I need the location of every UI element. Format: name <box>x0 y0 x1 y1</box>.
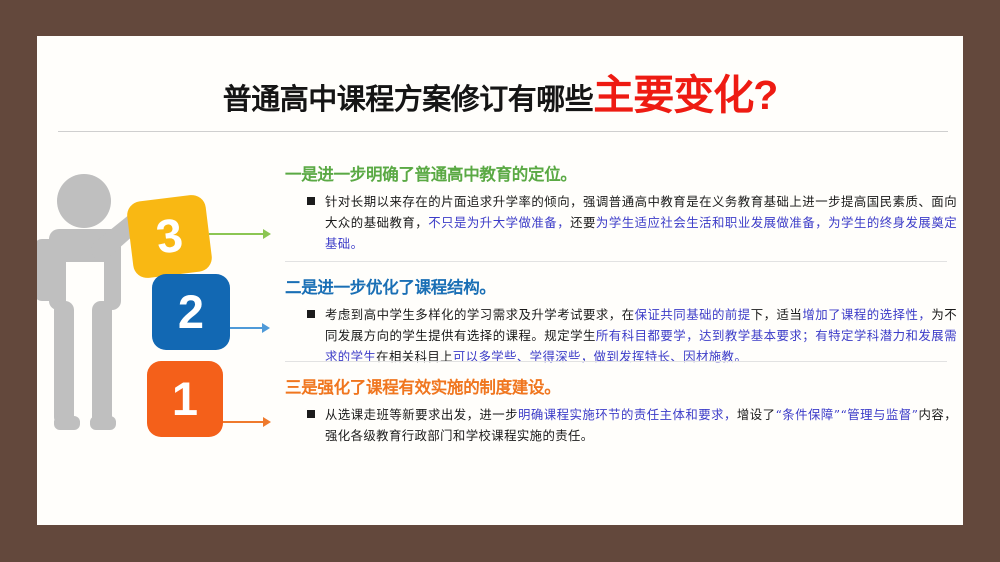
arrow-to-section-2 <box>230 323 270 333</box>
section-3-body-row: 从选课走班等新要求出发，进一步明确课程实施环节的责任主体和要求，增设了“条件保障… <box>267 404 957 446</box>
section-2-body: 考虑到高中学生多样化的学习需求及升学考试要求，在保证共同基础的前提下，适当增加了… <box>325 304 957 367</box>
bullet-square-icon <box>307 410 315 418</box>
slide-canvas: 普通高中课程方案修订有哪些主要变化? 3 <box>37 36 963 525</box>
section-1-body-row: 针对长期以来存在的片面追求升学率的倾向，强调普通高中教育是在义务教育基础上进一步… <box>267 191 957 254</box>
text-run-highlight: 增加了课程的选择性， <box>802 307 931 322</box>
number-box-2[interactable]: 2 <box>152 274 230 350</box>
text-run-highlight: “条件保障”“管理与监督” <box>775 407 918 422</box>
section-2: 二是进一步优化了课程结构。 考虑到高中学生多样化的学习需求及升学考试要求，在保证… <box>267 274 957 367</box>
number-box-3[interactable]: 3 <box>126 193 214 279</box>
section-1-heading: 一是进一步明确了普通高中教育的定位。 <box>285 161 957 185</box>
section-3: 三是强化了课程有效实施的制度建设。 从选课走班等新要求出发，进一步明确课程实施环… <box>267 374 957 446</box>
bullet-square-icon <box>307 197 315 205</box>
text-run: 考虑到高中学生多样化的学习需求及升学考试要求，在 <box>325 307 635 322</box>
page-title-main: 普通高中课程方案修订有哪些 <box>223 84 594 116</box>
section-divider-1 <box>285 261 947 262</box>
arrow-to-section-1 <box>209 229 271 239</box>
text-run: 下，适当 <box>751 307 803 322</box>
section-divider-2 <box>285 361 947 362</box>
title-divider <box>58 131 948 132</box>
section-1: 一是进一步明确了普通高中教育的定位。 针对长期以来存在的片面追求升学率的倾向，强… <box>267 161 957 254</box>
slide-frame: 普通高中课程方案修订有哪些主要变化? 3 <box>0 0 1000 562</box>
text-run-highlight: 明确课程实施环节的责任主体和要求， <box>518 407 737 422</box>
arrow-to-section-3 <box>223 417 271 427</box>
number-box-2-label: 2 <box>152 288 230 335</box>
section-3-body: 从选课走班等新要求出发，进一步明确课程实施环节的责任主体和要求，增设了“条件保障… <box>325 404 957 446</box>
number-box-1-label: 1 <box>147 375 223 422</box>
section-3-heading: 三是强化了课程有效实施的制度建设。 <box>285 374 957 398</box>
text-run: 还要 <box>570 215 596 230</box>
text-run: 从选课走班等新要求出发，进一步 <box>325 407 518 422</box>
illustration-group: 3 2 1 <box>37 161 282 481</box>
text-run-highlight: 不只是为升大学做准备， <box>428 215 570 230</box>
text-run-highlight: 保证共同基础的前提 <box>635 307 751 322</box>
number-box-1[interactable]: 1 <box>147 361 223 437</box>
section-2-heading: 二是进一步优化了课程结构。 <box>285 274 957 298</box>
section-2-body-row: 考虑到高中学生多样化的学习需求及升学考试要求，在保证共同基础的前提下，适当增加了… <box>267 304 957 367</box>
page-title-accent: 主要变化? <box>593 72 777 118</box>
number-box-3-label: 3 <box>127 207 211 263</box>
page-title: 普通高中课程方案修订有哪些主要变化? <box>37 61 963 121</box>
bullet-square-icon <box>307 310 315 318</box>
text-run: 增设了 <box>737 407 776 422</box>
section-1-body: 针对长期以来存在的片面追求升学率的倾向，强调普通高中教育是在义务教育基础上进一步… <box>325 191 957 254</box>
